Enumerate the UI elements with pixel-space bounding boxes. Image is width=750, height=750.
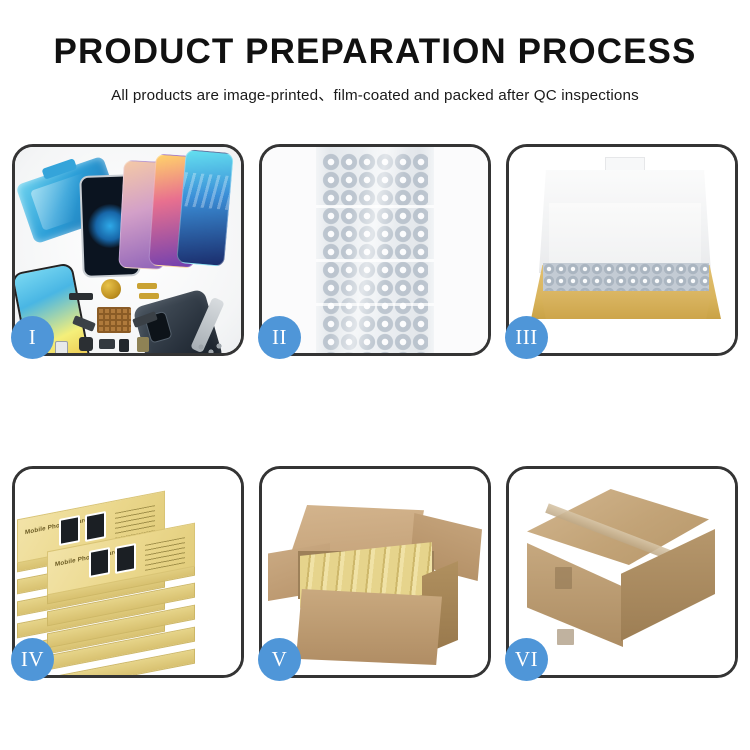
step-badge-5: V	[258, 638, 301, 681]
process-steps-grid: I II III	[12, 144, 738, 678]
small-part	[137, 283, 157, 289]
process-step-panel-3[interactable]: III	[506, 144, 738, 356]
box-front-panel	[535, 291, 717, 319]
step-badge-1: I	[11, 316, 54, 359]
tape-tab	[557, 629, 574, 645]
step-badge-4: IV	[11, 638, 54, 681]
box-phone-image	[89, 547, 110, 578]
box-lid-tab	[605, 157, 645, 171]
bubble-wrapped-contents	[543, 263, 709, 293]
step-badge-6: VI	[505, 638, 548, 681]
tape-tab	[555, 567, 572, 589]
small-part	[137, 337, 149, 352]
vibration-motor-part	[101, 279, 121, 299]
page-title: PRODUCT PREPARATION PROCESS	[0, 34, 750, 71]
step-badge-2: II	[258, 316, 301, 359]
screws-icon	[197, 343, 223, 353]
smartphone-blue	[176, 149, 234, 267]
step-1-photo	[15, 147, 241, 353]
process-step-panel-2[interactable]: II	[259, 144, 491, 356]
chip-grid-part	[97, 307, 131, 333]
box-phone-image	[59, 515, 80, 546]
small-part	[69, 293, 93, 300]
step-3-photo	[509, 147, 735, 353]
small-part	[79, 337, 93, 351]
small-part	[119, 339, 129, 352]
step-4-photo: Mobile Phone Spare Parts Mobile Phone Sp…	[15, 469, 241, 675]
step-badge-3: III	[505, 316, 548, 359]
small-part	[139, 293, 159, 299]
step-5-photo	[262, 469, 488, 675]
page-subtitle: All products are image-printed、film-coat…	[0, 83, 750, 105]
step-2-photo	[262, 147, 488, 353]
plastic-sheen	[316, 147, 434, 353]
small-part	[99, 339, 115, 349]
process-step-panel-5[interactable]: V	[259, 466, 491, 678]
bubble-wrapped-product	[316, 147, 434, 353]
foam-padding	[549, 203, 701, 269]
process-step-panel-1[interactable]: I	[12, 144, 244, 356]
process-step-panel-6[interactable]: VI	[506, 466, 738, 678]
process-step-panel-4[interactable]: Mobile Phone Spare Parts Mobile Phone Sp…	[12, 466, 244, 678]
page-header: PRODUCT PREPARATION PROCESS All products…	[0, 0, 750, 105]
carton-front-panel	[296, 589, 442, 665]
small-part	[55, 341, 68, 353]
box-phone-image	[115, 543, 136, 574]
step-6-photo	[509, 469, 735, 675]
box-phone-image	[85, 511, 106, 542]
